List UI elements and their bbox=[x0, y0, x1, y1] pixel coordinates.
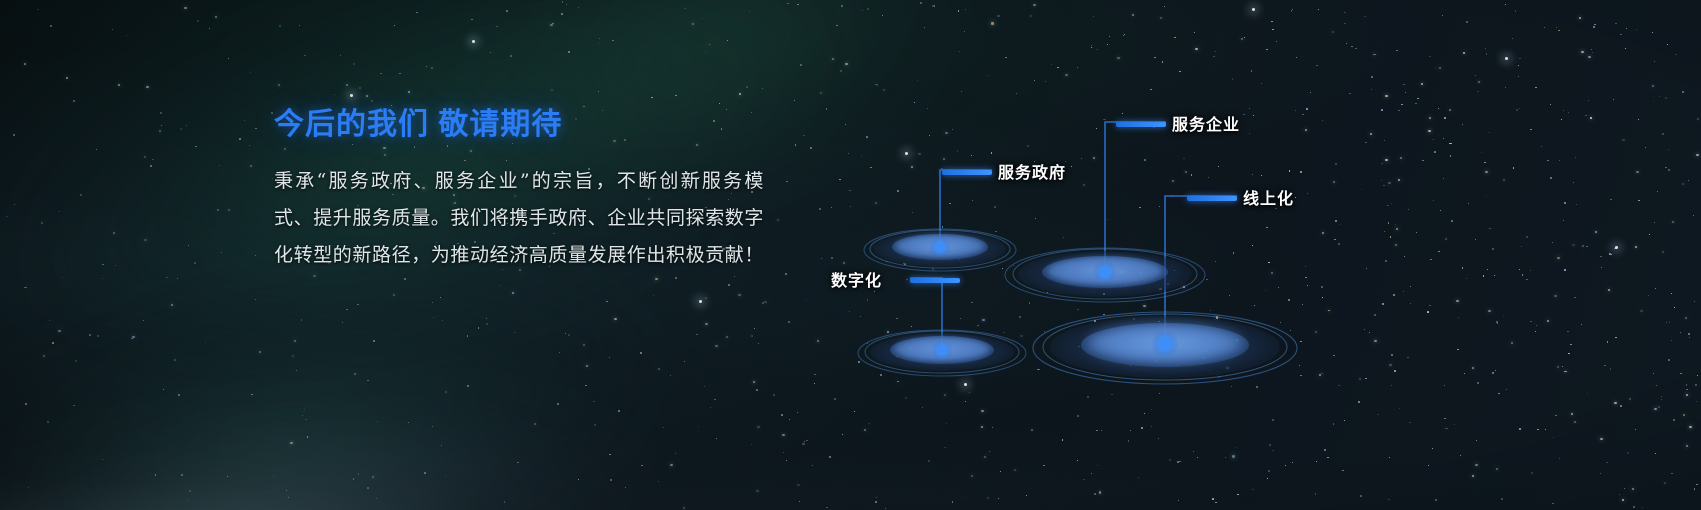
dash-marker-xianshang bbox=[1187, 196, 1237, 201]
diagram-graphics bbox=[820, 0, 1701, 510]
copy-block: 今后的我们 敬请期待 秉承“服务政府、服务企业”的宗旨，不断创新服务模式、提升服… bbox=[274, 108, 764, 274]
dash-marker-zhengfu bbox=[942, 170, 992, 175]
page-title: 今后的我们 敬请期待 bbox=[274, 108, 764, 141]
dash-marker-shuzihua bbox=[910, 278, 960, 283]
platform-diagram: 服务政府 服务企业 线上化 数字化 bbox=[820, 0, 1701, 510]
page-description: 秉承“服务政府、服务企业”的宗旨，不断创新服务模式、提升服务质量。我们将携手政府… bbox=[274, 163, 764, 274]
hero-banner: 今后的我们 敬请期待 秉承“服务政府、服务企业”的宗旨，不断创新服务模式、提升服… bbox=[0, 0, 1701, 510]
node-label-qiye[interactable]: 服务企业 bbox=[1172, 111, 1240, 135]
dash-marker-qiye bbox=[1116, 122, 1166, 127]
node-label-shuzihua[interactable]: 数字化 bbox=[831, 267, 882, 291]
node-label-zhengfu[interactable]: 服务政府 bbox=[998, 159, 1066, 183]
node-label-xianshang[interactable]: 线上化 bbox=[1243, 185, 1294, 209]
